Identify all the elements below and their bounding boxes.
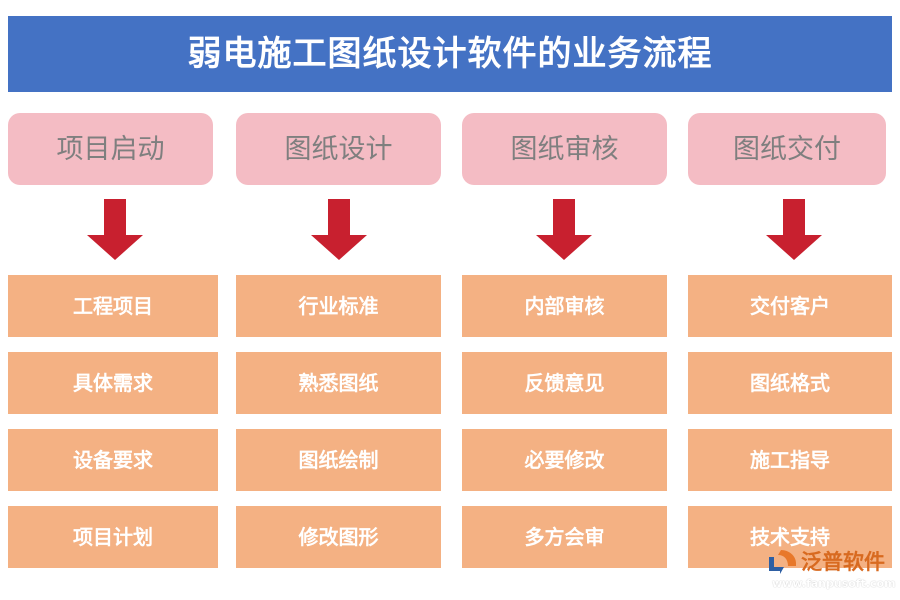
watermark-url: www.fanpusoft.com [772,578,896,589]
task-cell[interactable]: 内部审核 [462,275,667,337]
stage-header-1[interactable]: 项目启动 [8,113,213,185]
task-label: 施工指导 [750,450,830,470]
flowchart-canvas: 弱电施工图纸设计软件的业务流程 项目启动 工程项目 具体需求 设备要求 项目计划… [0,0,900,600]
task-cell[interactable]: 施工指导 [688,429,892,491]
task-label: 多方会审 [525,527,605,547]
task-label: 设备要求 [73,450,153,470]
task-label: 工程项目 [73,296,153,316]
watermark-brand: 泛普软件 [801,552,885,573]
task-cell[interactable]: 工程项目 [8,275,218,337]
task-cell[interactable]: 设备要求 [8,429,218,491]
task-cell[interactable]: 反馈意见 [462,352,667,414]
task-cell[interactable]: 必要修改 [462,429,667,491]
task-cell[interactable]: 图纸绘制 [236,429,441,491]
task-label: 具体需求 [73,373,153,393]
task-label: 交付客户 [750,296,830,316]
task-label: 内部审核 [525,296,605,316]
task-label: 行业标准 [299,296,379,316]
stage-header-label: 图纸设计 [285,136,393,163]
stage-header-3[interactable]: 图纸审核 [462,113,667,185]
task-label: 修改图形 [299,527,379,547]
arrow-down-icon-1 [86,199,144,261]
stage-header-4[interactable]: 图纸交付 [688,113,886,185]
task-cell[interactable]: 交付客户 [688,275,892,337]
task-label: 技术支持 [750,527,830,547]
task-cell[interactable]: 项目计划 [8,506,218,568]
task-label: 项目计划 [73,527,153,547]
stage-header-2[interactable]: 图纸设计 [236,113,441,185]
task-label: 图纸格式 [750,373,830,393]
task-cell[interactable]: 图纸格式 [688,352,892,414]
arrow-down-icon-2 [310,199,368,261]
task-cell[interactable]: 修改图形 [236,506,441,568]
stage-header-label: 图纸审核 [511,136,619,163]
task-label: 图纸绘制 [299,450,379,470]
task-cell[interactable]: 多方会审 [462,506,667,568]
task-label: 熟悉图纸 [299,373,379,393]
task-label: 反馈意见 [525,373,605,393]
task-cell[interactable]: 行业标准 [236,275,441,337]
arrow-down-icon-3 [535,199,593,261]
arrow-down-icon-4 [765,199,823,261]
task-cell[interactable]: 熟悉图纸 [236,352,441,414]
fanpu-logo-icon [768,549,798,575]
watermark: 泛普软件 www.fanpusoft.com [768,545,898,593]
title-banner: 弱电施工图纸设计软件的业务流程 [8,16,892,92]
task-label: 必要修改 [525,450,605,470]
task-cell[interactable]: 具体需求 [8,352,218,414]
stage-header-label: 图纸交付 [733,136,841,163]
stage-header-label: 项目启动 [57,136,165,163]
watermark-brand-row: 泛普软件 [768,549,885,575]
page-title: 弱电施工图纸设计软件的业务流程 [188,37,713,71]
